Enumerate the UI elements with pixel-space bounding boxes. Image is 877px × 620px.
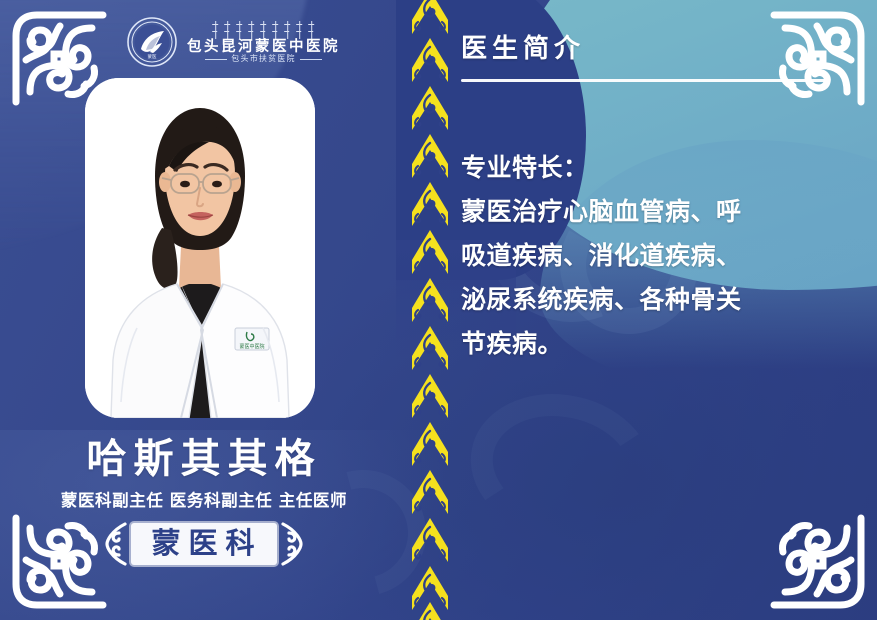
intro-line: 专业特长：	[461, 146, 853, 190]
svg-text:蒙医: 蒙医	[148, 53, 157, 60]
page-title: 医生简介	[461, 28, 585, 65]
doctor-titles: 蒙医科副主任 医务科副主任 主任医师	[0, 487, 408, 511]
mongolian-corner-ornament-icon	[767, 6, 871, 110]
intro-line: 蒙医治疗心脑血管病、呼	[461, 190, 853, 234]
doctor-profile-poster: 蒙医 包头昆河蒙医中医院 包头市扶贫医院	[0, 0, 877, 620]
mongolian-zigzag-pattern-icon	[408, 0, 452, 620]
intro-line: 泌尿系统疾病、各种骨关	[461, 278, 853, 322]
svg-text:蒙医中医院: 蒙医中医院	[239, 343, 264, 350]
intro-line: 节疾病。	[461, 322, 853, 366]
department-badge-wrap: 蒙医科	[0, 521, 408, 567]
hospital-leaf-emblem-icon: 蒙医	[126, 16, 178, 68]
doctor-identity-block: 哈斯其其格 蒙医科副主任 医务科副主任 主任医师 蒙医科	[0, 438, 408, 567]
hospital-subtitle: 包头市扶贫医院	[205, 55, 321, 63]
hospital-branding: 蒙医 包头昆河蒙医中医院 包头市扶贫医院	[126, 16, 340, 68]
department-badge: 蒙医科	[131, 523, 276, 565]
doctor-name: 哈斯其其格	[0, 438, 408, 480]
intro-body: 专业特长： 蒙医治疗心脑血管病、呼 吸道疾病、消化道疾病、 泌尿系统疾病、各种骨…	[461, 146, 853, 366]
scroll-ornament-right-icon	[277, 521, 307, 567]
hospital-name: 包头昆河蒙医中医院	[187, 40, 340, 55]
title-underline	[461, 79, 830, 82]
doctor-portrait: 蒙医中医院	[85, 78, 315, 418]
scroll-ornament-left-icon	[101, 521, 131, 567]
intro-line: 吸道疾病、消化道疾病、	[461, 234, 853, 278]
mongolian-script-line	[212, 21, 315, 39]
mongolian-corner-ornament-icon	[767, 510, 871, 614]
